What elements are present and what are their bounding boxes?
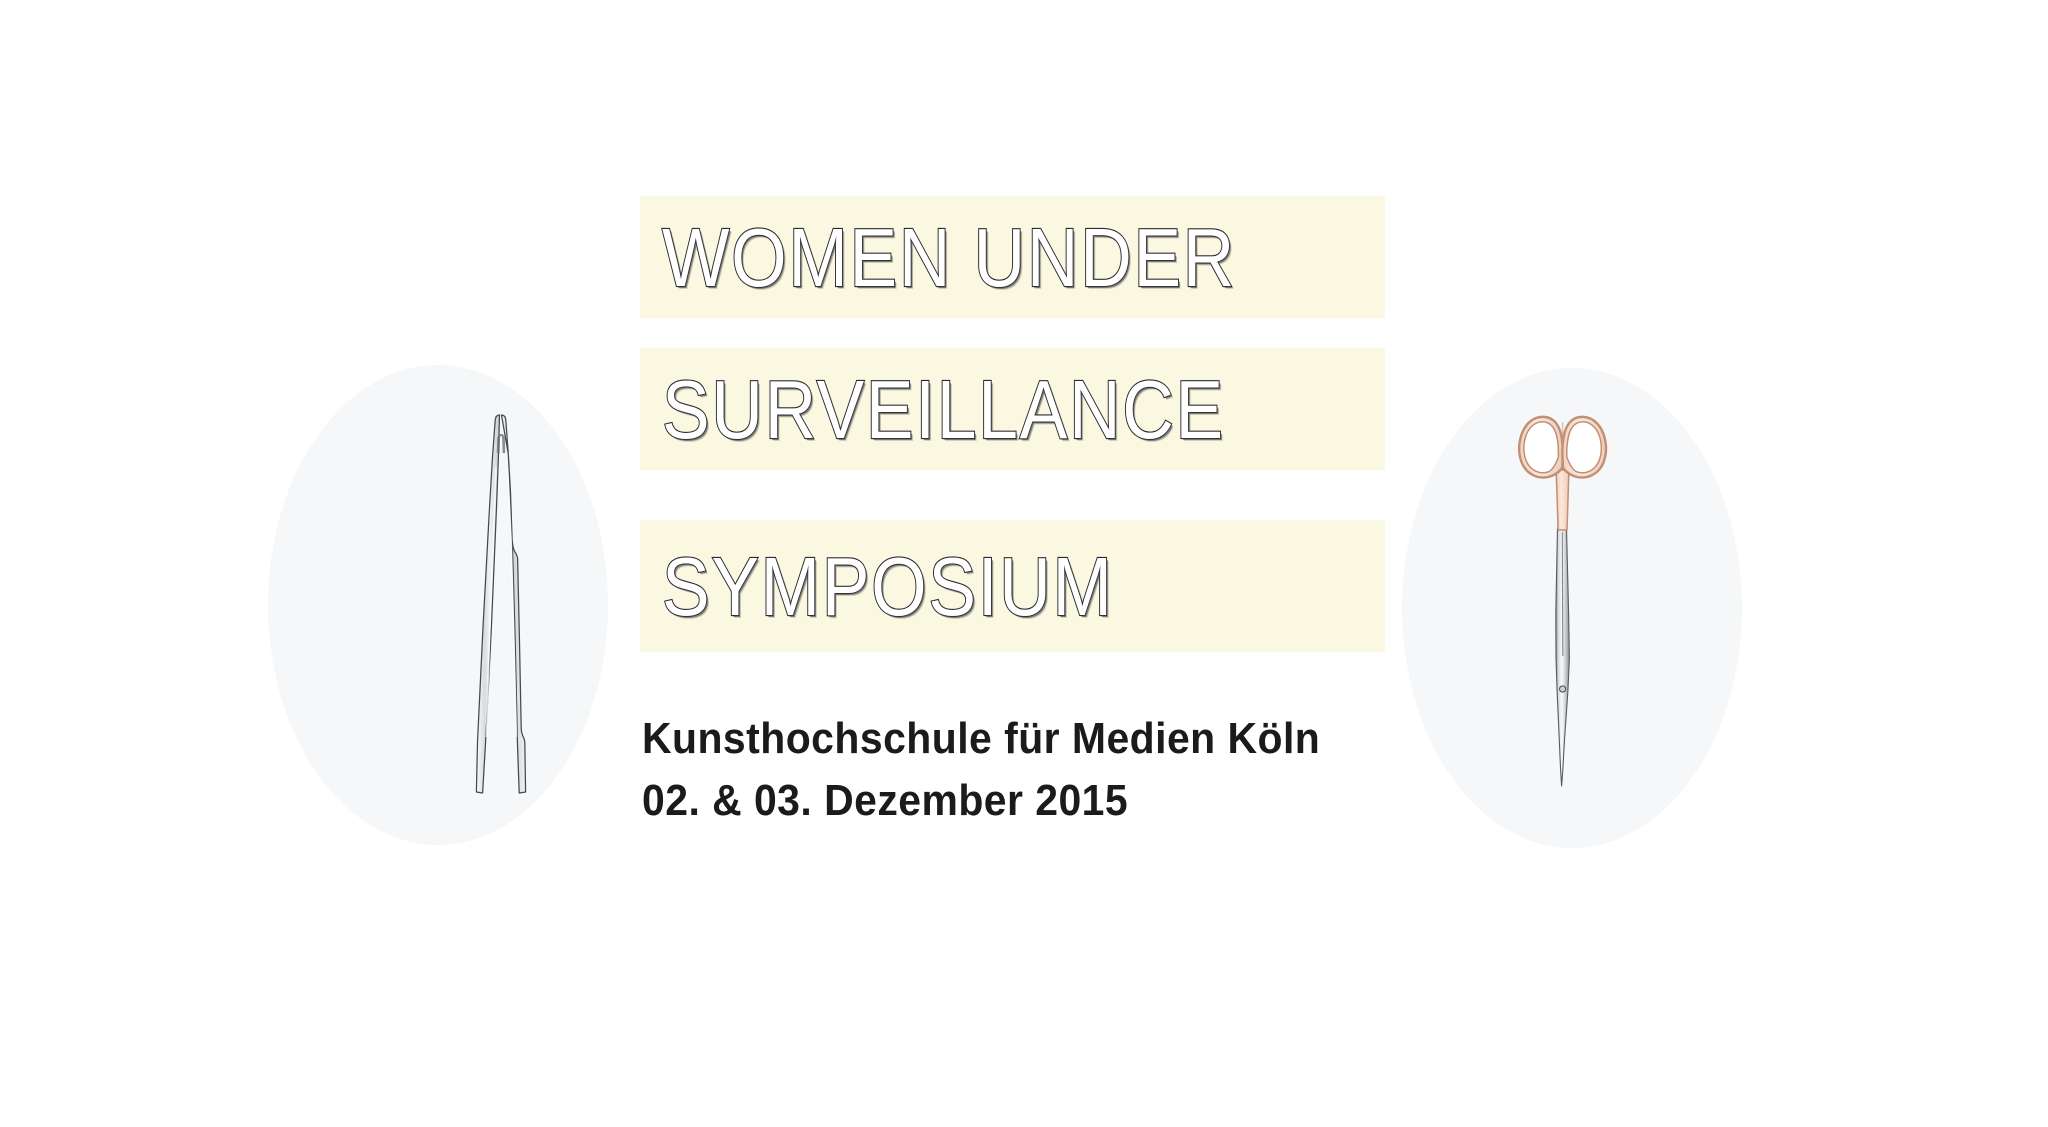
tweezers-tip-seam (497, 434, 505, 453)
scissors-svg (1500, 408, 1630, 808)
tweezers-svg (455, 412, 545, 802)
title-highlight-bar-2: SURVEILLANCE (640, 348, 1385, 470)
poster-subtitle: Kunsthochschule für Medien Köln 02. & 03… (642, 708, 1402, 832)
tweezers-illustration (455, 412, 545, 802)
scissors-blade-seam (1562, 532, 1563, 656)
subtitle-venue: Kunsthochschule für Medien Köln (642, 708, 1349, 770)
scissors-illustration (1500, 408, 1630, 808)
background-blob-left (268, 365, 608, 845)
title-highlight-bar-3: SYMPOSIUM (640, 520, 1385, 652)
title-line-3-text: SYMPOSIUM (662, 545, 1114, 628)
title-line-2-text: SURVEILLANCE (662, 368, 1225, 451)
scissors-rivet (1560, 686, 1566, 692)
scissors-ring-left-hole (1524, 422, 1559, 473)
poster-title: WOMEN UNDER SURVEILLANCE SYMPOSIUM (640, 196, 1385, 652)
subtitle-dates: 02. & 03. Dezember 2015 (642, 770, 1349, 832)
title-highlight-bar-1: WOMEN UNDER (640, 196, 1385, 318)
scissors-ring-right-hole (1567, 422, 1602, 473)
poster-canvas: WOMEN UNDER SURVEILLANCE SYMPOSIUM Kunst… (0, 0, 2048, 1127)
title-line-1-text: WOMEN UNDER (662, 216, 1236, 299)
scissors-handle-neck (1556, 470, 1569, 530)
